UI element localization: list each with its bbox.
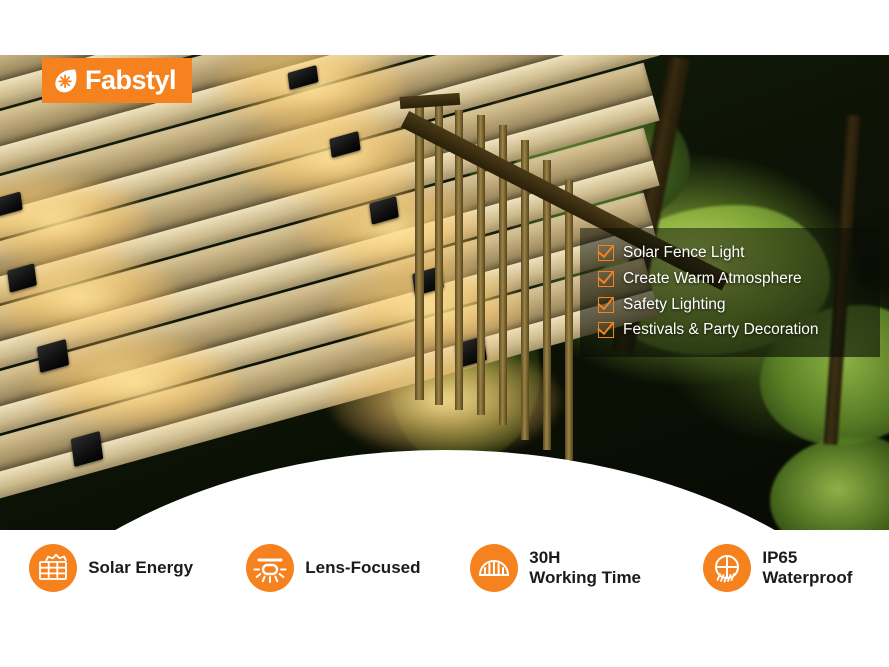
footer-label-line1: IP65 [762,548,797,567]
feature-list-item: Festivals & Party Decoration [580,317,880,343]
brand-name: Fabstyl [85,67,176,94]
lens-focus-icon [246,544,294,592]
footer-feature-label: Solar Energy [88,558,193,578]
leaf-sunburst-icon [52,67,79,94]
railing-post [435,105,443,405]
footer-feature-working-time: 30H Working Time [445,544,667,592]
feature-icon-bar: Solar Energy [0,530,889,667]
footer-label-line1: 30H [529,548,560,567]
feature-list-item: Safety Lighting [580,292,880,318]
feature-label: Create Warm Atmosphere [623,270,802,288]
feature-list-item: Solar Fence Light [580,240,880,266]
product-marketing-banner: Fabstyl Solar Fence Light Create Warm At… [0,0,889,667]
railing-post [543,160,551,450]
feature-label: Safety Lighting [623,296,726,314]
brand-logo-banner[interactable]: Fabstyl [42,58,192,103]
railing-post [415,100,424,400]
railing-post [565,180,573,460]
feature-label: Festivals & Party Decoration [623,321,819,339]
footer-feature-label: Lens-Focused [305,558,420,578]
footer-feature-solar-energy: Solar Energy [0,544,222,592]
waterproof-icon [703,544,751,592]
footer-feature-label: 30H Working Time [529,548,641,588]
battery-time-icon [470,544,518,592]
checkbox-checked-icon [598,322,614,338]
feature-list-item: Create Warm Atmosphere [580,266,880,292]
checkbox-checked-icon [598,297,614,313]
footer-label-line1: Solar Energy [88,558,193,577]
footer-label-line2: Working Time [529,568,641,588]
solar-panel-icon [29,544,77,592]
footer-label-line2: Waterproof [762,568,852,588]
footer-feature-waterproof: IP65 Waterproof [667,544,889,592]
feature-label: Solar Fence Light [623,244,745,262]
footer-label-line1: Lens-Focused [305,558,420,577]
feature-list-panel: Solar Fence Light Create Warm Atmosphere… [580,228,880,357]
checkbox-checked-icon [598,245,614,261]
footer-feature-lens-focused: Lens-Focused [222,544,444,592]
checkbox-checked-icon [598,271,614,287]
footer-feature-label: IP65 Waterproof [762,548,852,588]
